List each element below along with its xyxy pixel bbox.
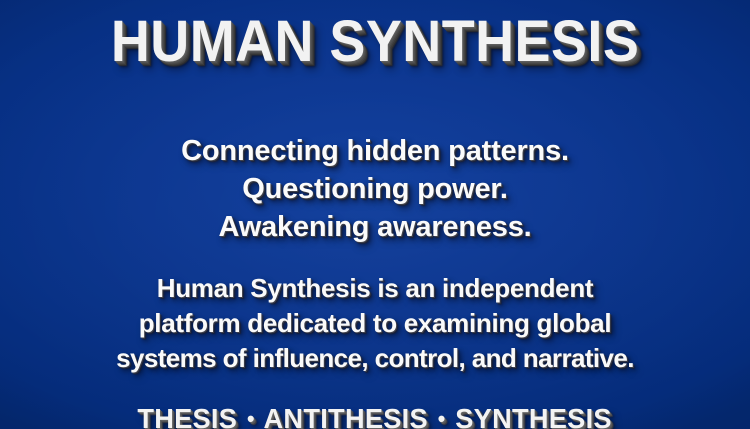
description-block: Human Synthesis is an independent platfo… bbox=[116, 271, 634, 375]
footer-motto: THESIS • ANTITHESIS • SYNTHESIS bbox=[138, 403, 612, 429]
footer-item-antithesis: ANTITHESIS bbox=[264, 403, 428, 429]
tagline-line-2: Questioning power. bbox=[181, 171, 569, 207]
description-line-2: platform dedicated to examining global bbox=[116, 306, 634, 340]
description-line-3: systems of influence, control, and narra… bbox=[116, 341, 634, 375]
tagline-block: Connecting hidden patterns. Questioning … bbox=[181, 133, 569, 245]
poster-banner: HUMAN SYNTHESIS Connecting hidden patter… bbox=[0, 0, 750, 429]
page-title: HUMAN SYNTHESIS bbox=[111, 13, 639, 71]
tagline-line-1: Connecting hidden patterns. bbox=[181, 133, 569, 169]
tagline-line-3: Awakening awareness. bbox=[181, 209, 569, 245]
poster-content-stack: HUMAN SYNTHESIS Connecting hidden patter… bbox=[0, 0, 750, 429]
footer-item-synthesis: SYNTHESIS bbox=[456, 403, 613, 429]
bullet-separator-icon: • bbox=[245, 406, 257, 429]
footer-item-thesis: THESIS bbox=[138, 403, 238, 429]
bullet-separator-icon: • bbox=[436, 406, 448, 429]
description-line-1: Human Synthesis is an independent bbox=[116, 271, 634, 305]
